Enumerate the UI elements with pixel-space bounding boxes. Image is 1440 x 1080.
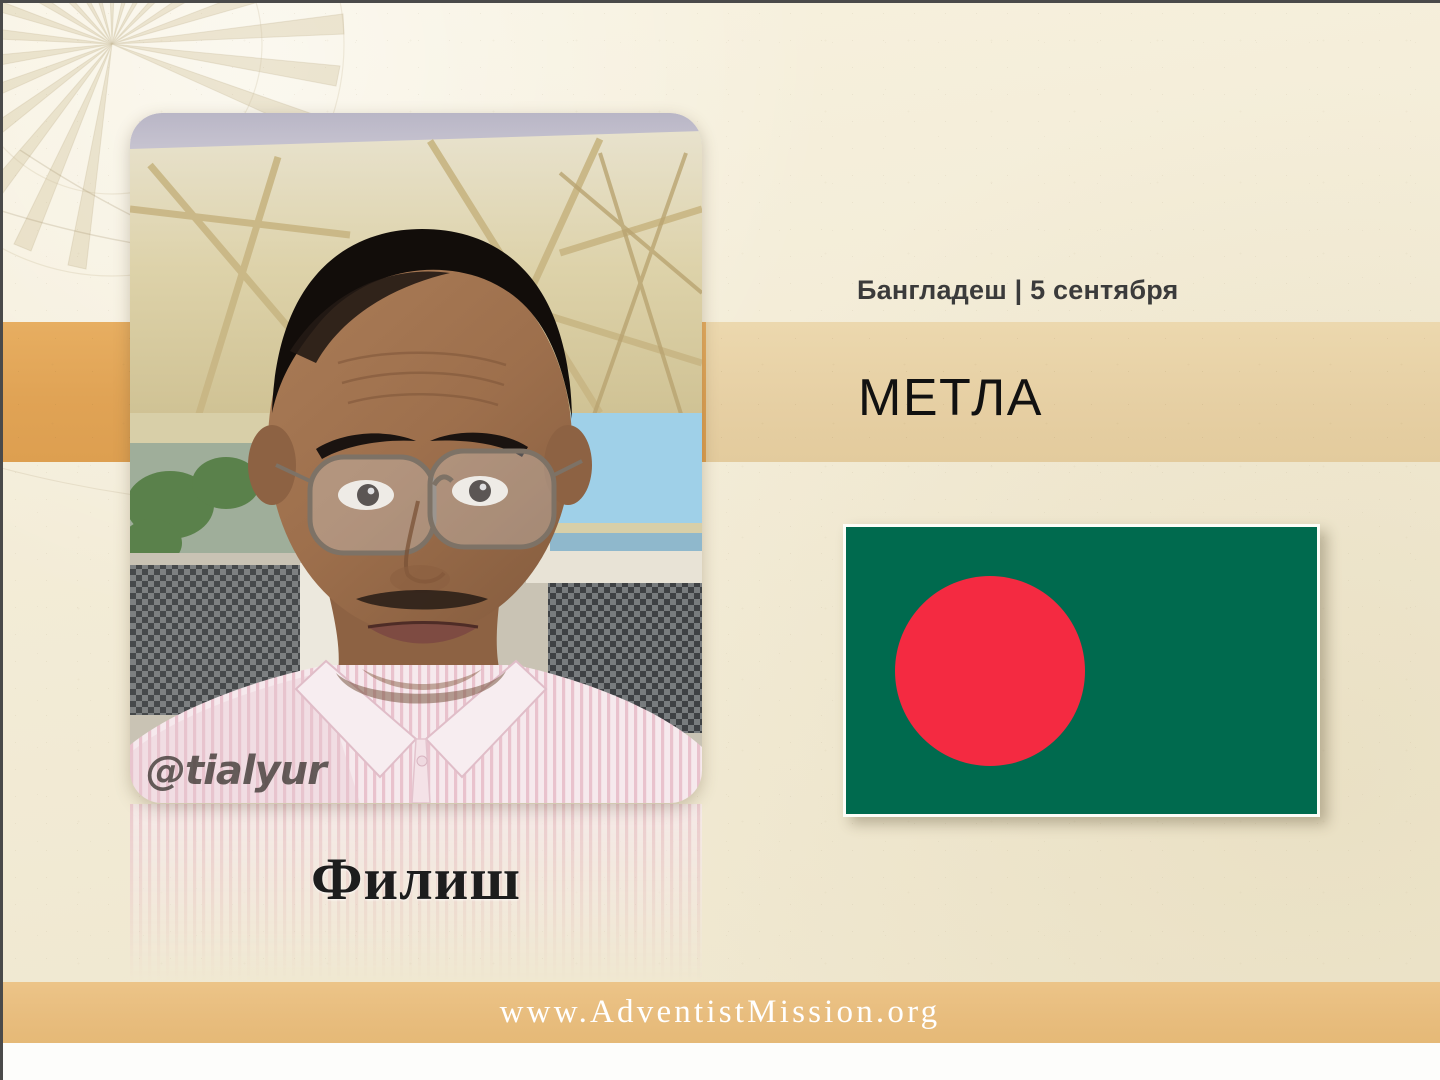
slide-root: MS Бангладеш | 5 сентября МЕТЛА xyxy=(0,0,1440,1080)
portrait-photo xyxy=(130,113,702,803)
footer-website-url[interactable]: www.AdventistMission.org xyxy=(0,982,1440,1043)
person-name: Филиш xyxy=(130,845,702,914)
slide-bottom-margin xyxy=(0,1043,1440,1080)
country-date-subtitle: Бангладеш | 5 сентября xyxy=(857,275,1179,306)
slide-edge-left xyxy=(0,0,3,1080)
flag-bangladesh xyxy=(843,524,1320,817)
slide-edge-top xyxy=(0,0,1440,3)
band-tan-segment xyxy=(706,322,1440,462)
flag-red-disc-icon xyxy=(895,576,1085,766)
page-title: МЕТЛА xyxy=(858,368,1043,428)
